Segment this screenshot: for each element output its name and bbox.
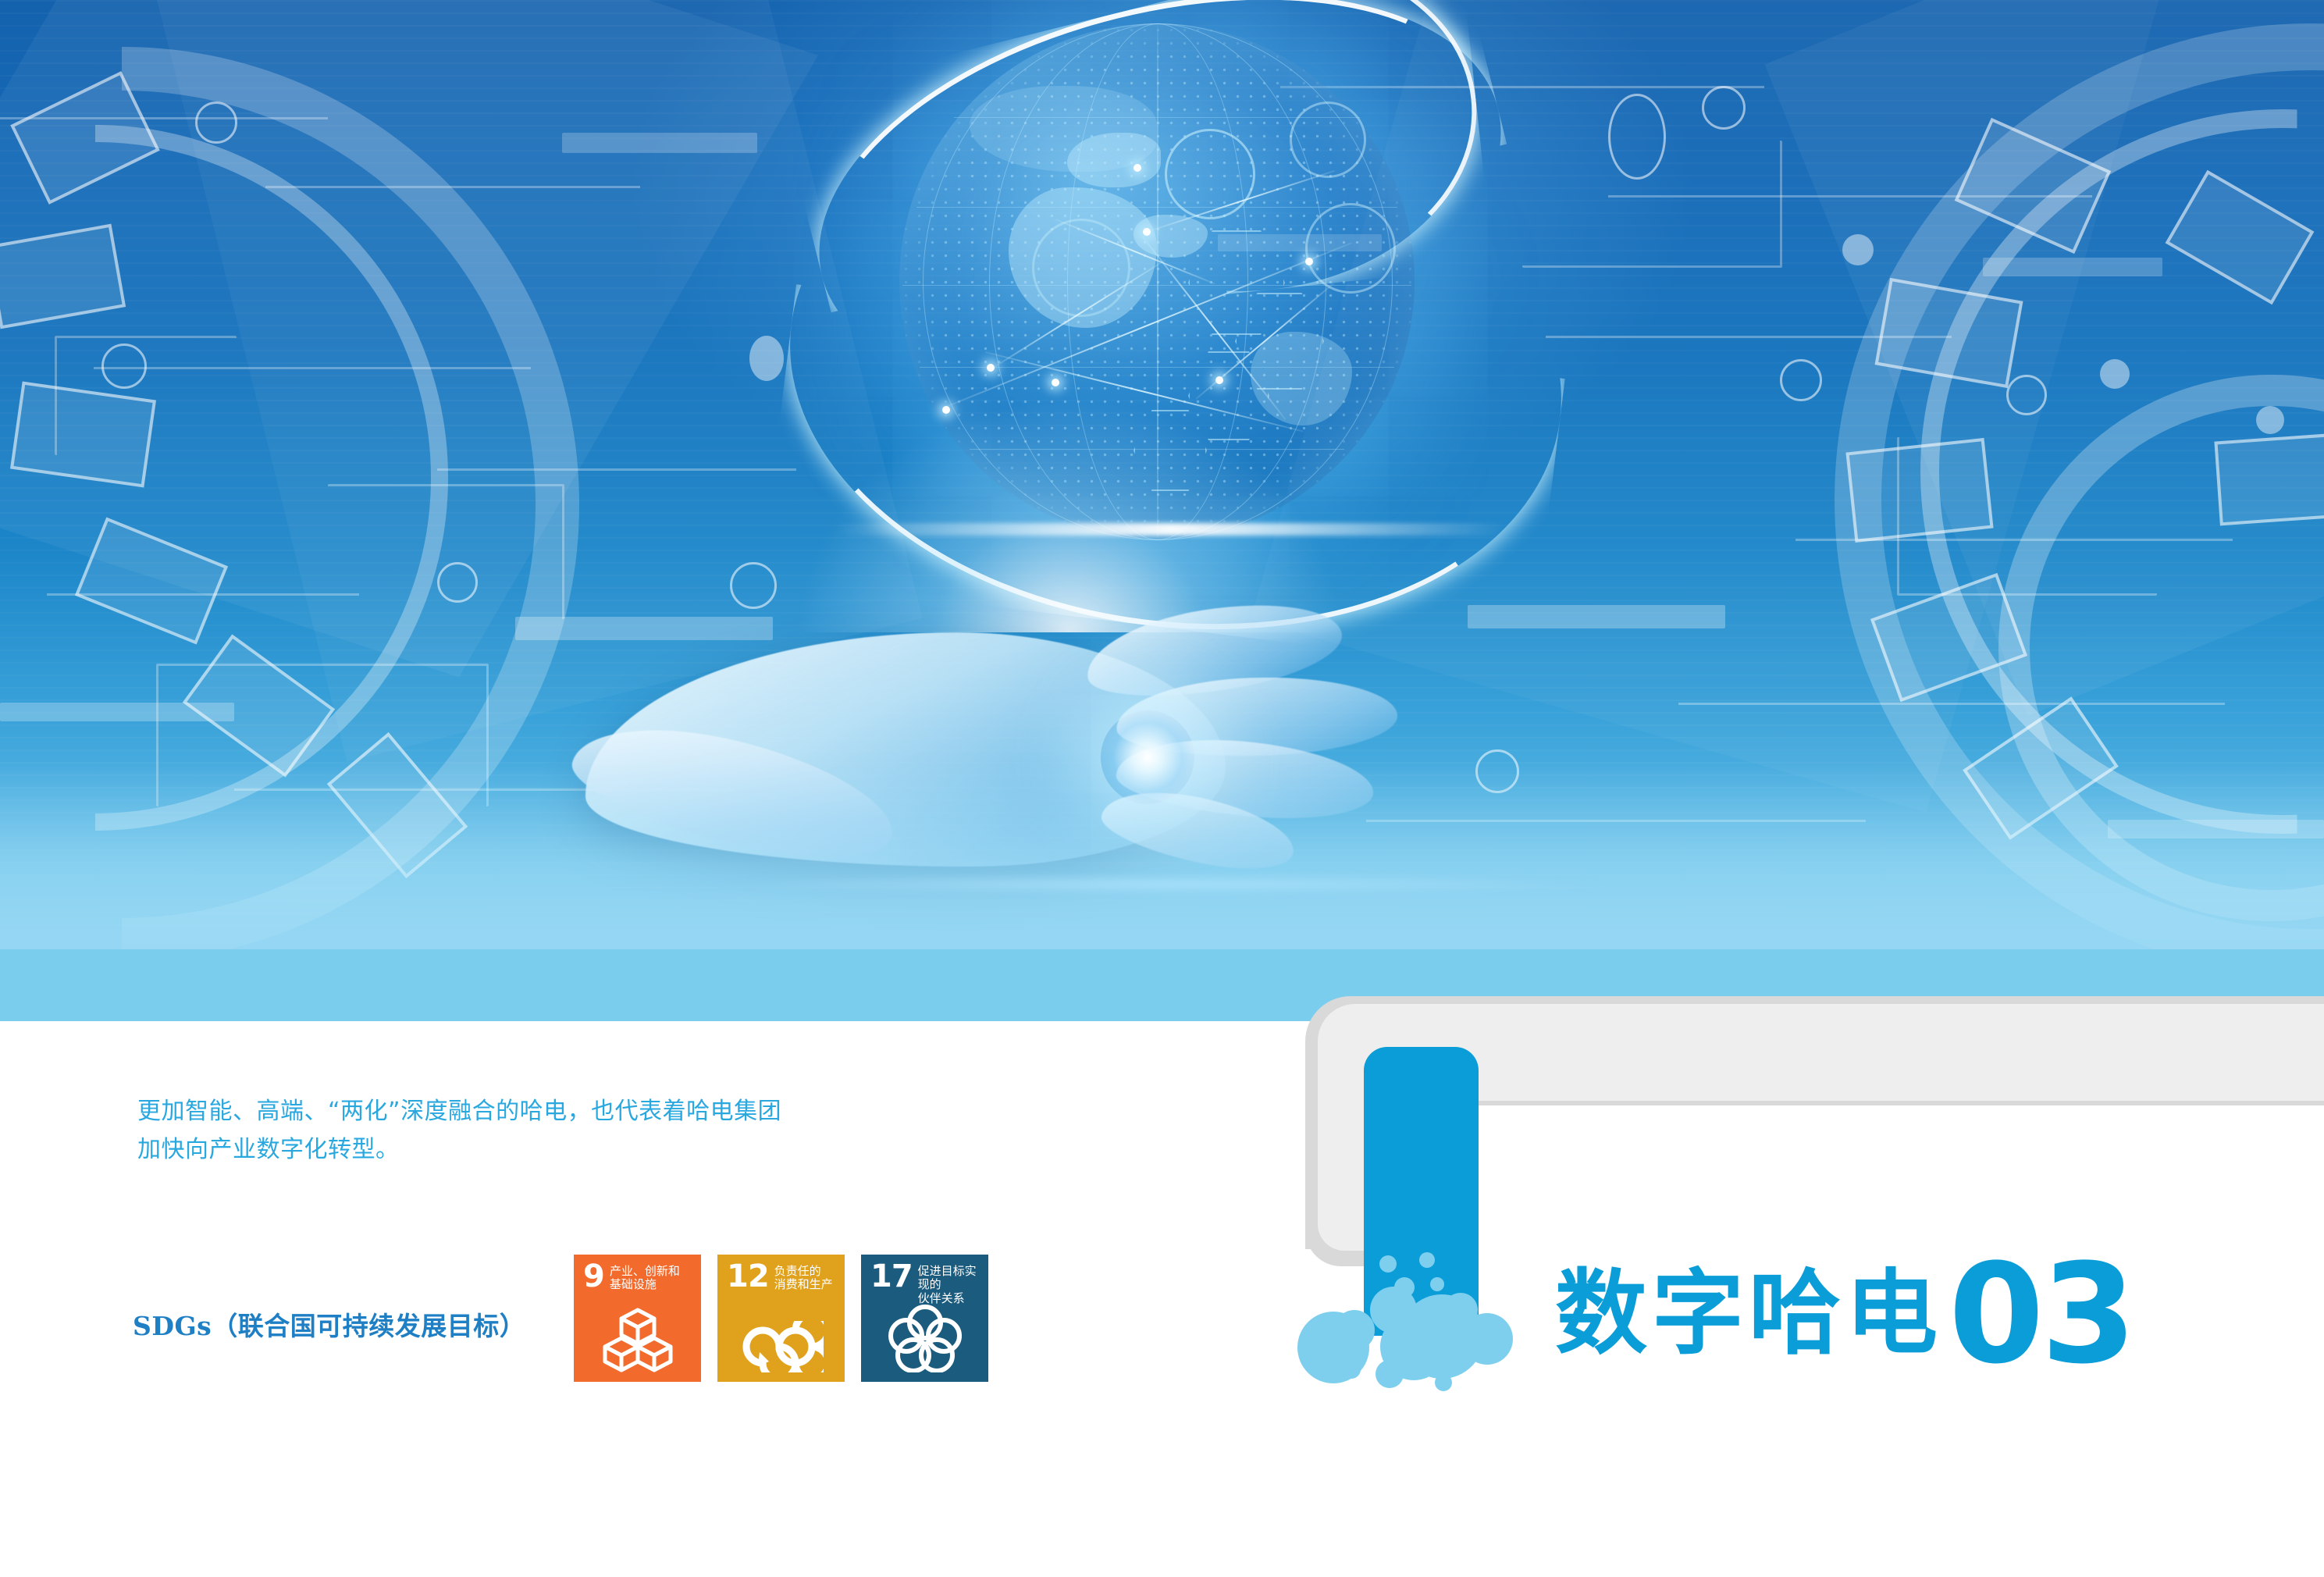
circuit-node-icon — [730, 562, 777, 609]
sdg-title: 负责任的 消费和生产 — [774, 1262, 833, 1292]
page-root: 更加智能、高端、“两化”深度融合的哈电，也代表着哈电集团 加快向产业数字化转型。… — [0, 0, 2324, 1577]
circuit-path — [1897, 437, 2157, 596]
sdg-tile-17[interactable]: 17 促进目标实现的 伙伴关系 — [861, 1255, 988, 1382]
bubble-icon — [1379, 1255, 1397, 1273]
bubble-icon — [1376, 1360, 1404, 1388]
circuit-path — [55, 336, 237, 455]
sdg-tile-header: 17 促进目标实现的 伙伴关系 — [870, 1262, 982, 1305]
circuit-trace — [1678, 703, 2225, 705]
body-line-2: 加快向产业数字化转型。 — [137, 1131, 934, 1169]
circuit-node-icon — [101, 344, 147, 389]
section-number: 03 — [1949, 1260, 2134, 1370]
sdg-title: 促进目标实现的 伙伴关系 — [918, 1262, 982, 1305]
hero-accent-bar — [562, 133, 757, 153]
circuit-dot-icon — [1842, 234, 1874, 265]
bubble-icon — [1430, 1277, 1444, 1291]
sdg-number: 9 — [583, 1262, 604, 1291]
sdg-tile-header: 9 产业、创新和 基础设施 — [583, 1262, 695, 1292]
horizon-light-streak — [835, 523, 1507, 536]
bubble-icon — [1461, 1313, 1513, 1365]
hero-image — [0, 0, 2324, 949]
sdg-tile-12[interactable]: 12 负责任的 消费和生产 — [717, 1255, 845, 1382]
sdg-number: 17 — [870, 1262, 913, 1291]
hero-accent-bar — [1983, 258, 2162, 276]
circuit-node-icon — [1702, 86, 1746, 130]
bubble-icon — [1342, 1360, 1361, 1379]
hero-accent-bar — [0, 703, 234, 721]
circuit-trace — [1546, 336, 1952, 338]
circuit-node-icon — [1780, 359, 1822, 401]
sdg-title: 产业、创新和 基础设施 — [610, 1262, 680, 1292]
circuit-node-icon — [1608, 94, 1666, 180]
body-paragraph: 更加智能、高端、“两化”深度融合的哈电，也代表着哈电集团 加快向产业数字化转型。 — [137, 1093, 934, 1169]
infinity-loop-icon — [717, 1321, 845, 1372]
bubble-icon — [1435, 1374, 1452, 1391]
circuit-dot-icon — [749, 336, 784, 381]
circuit-node-icon — [195, 101, 237, 144]
circuit-node-icon — [2006, 375, 2047, 415]
body-line-1: 更加智能、高端、“两化”深度融合的哈电，也代表着哈电集团 — [137, 1093, 934, 1131]
circuit-trace — [265, 186, 640, 188]
circuit-node-icon — [437, 562, 478, 603]
sdg-tile-9[interactable]: 9 产业、创新和 基础设施 — [574, 1255, 701, 1382]
bubble-icon — [1419, 1252, 1435, 1268]
circuit-dot-icon — [2100, 359, 2130, 389]
sdgs-label: SDGs（联合国可持续发展目标） — [133, 1305, 525, 1343]
interlocking-circles-icon — [861, 1302, 988, 1372]
section-title-text: 数字哈电 — [1555, 1267, 1942, 1359]
gear-tooth-icon — [2214, 433, 2324, 526]
section-title: 数字哈电 03 — [1555, 1249, 2134, 1359]
hero-bottom-glow — [0, 762, 2324, 949]
circuit-dot-icon — [2256, 406, 2284, 434]
hand-light-beam — [796, 398, 1343, 632]
circuit-trace — [437, 468, 796, 471]
sdg-tile-header: 12 负责任的 消费和生产 — [727, 1262, 838, 1292]
bubble-icon — [1394, 1277, 1415, 1298]
circuit-trace — [0, 117, 328, 119]
sdg-number: 12 — [727, 1262, 769, 1291]
sdg-tile-group: 9 产业、创新和 基础设施 — [574, 1255, 988, 1382]
circuit-trace — [47, 593, 359, 596]
cubes-icon — [574, 1307, 701, 1372]
